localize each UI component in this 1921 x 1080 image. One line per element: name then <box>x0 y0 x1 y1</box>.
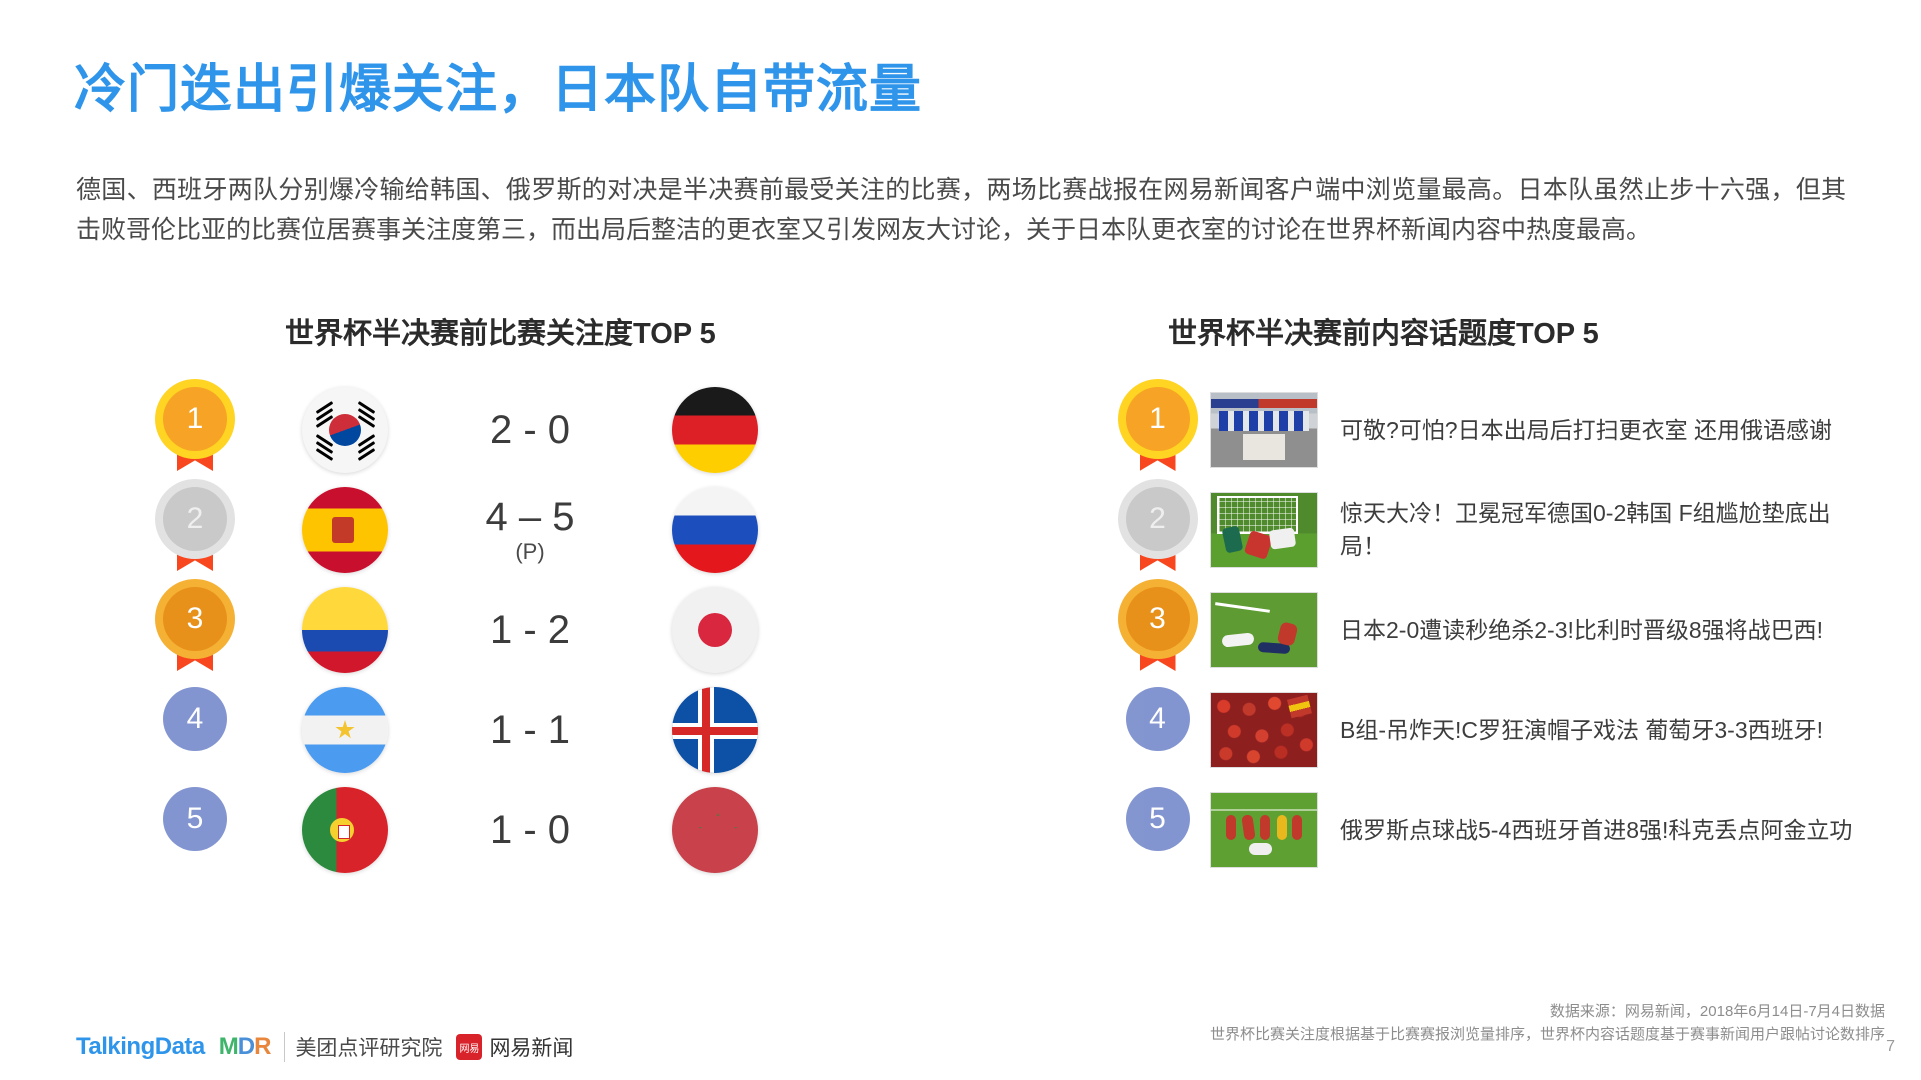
rank-number: 4 <box>1149 702 1166 736</box>
match-score: 1 - 1 <box>440 709 620 751</box>
away-flag-cell <box>620 687 810 773</box>
topic-headline[interactable]: 日本2-0遭读秒绝杀2-3!比利时晋级8强将战巴西! <box>1340 614 1860 647</box>
rank-cell: 1 <box>140 387 250 473</box>
topic-popularity-list: 1 可敬?可怕?日本出局后打扫更衣室 还用俄语感谢 2 惊天大冷！卫冕冠军德国0… <box>1105 380 1895 880</box>
score-value: 4 – 5 <box>486 495 575 539</box>
rank-cell: 5 <box>140 787 250 873</box>
rank-badge-4: 4 <box>1126 687 1190 773</box>
rank-cell: 5 <box>1105 787 1210 873</box>
topic-headline[interactable]: 惊天大冷！卫冕冠军德国0-2韩国 F组尴尬垫底出局！ <box>1340 497 1860 563</box>
rank-badge-4: 4 <box>163 687 227 773</box>
flag-icon-spain <box>302 487 388 573</box>
left-panel-heading: 世界杯半决赛前比赛关注度TOP 5 <box>285 310 716 352</box>
table-row: 3 1 - 2 <box>140 580 900 680</box>
rank-badge-5: 5 <box>163 787 227 873</box>
logo-mdr: MDR <box>219 1033 271 1061</box>
source-note: 数据来源：网易新闻，2018年6月14日-7月4日数据 世界杯比赛关注度根据基于… <box>1210 1000 1885 1046</box>
thumbnail-red-crowd <box>1210 692 1318 768</box>
list-item: 5 俄罗斯点球战5-4西班牙首进8强!科克丢点阿金立功 <box>1105 780 1895 880</box>
netease-label: 网易新闻 <box>489 1032 573 1062</box>
rank-number: 4 <box>187 702 204 736</box>
flag-icon-colombia <box>302 587 388 673</box>
match-score: 1 - 2 <box>440 609 620 651</box>
rank-cell: 3 <box>1105 587 1210 673</box>
home-flag-cell <box>250 787 440 873</box>
page-title: 冷门迭出引爆关注，日本队自带流量 <box>74 62 922 119</box>
list-item: 4 B组-吊炸天!C罗狂演帽子戏法 葡萄牙3-3西班牙! <box>1105 680 1895 780</box>
rank-badge-3: 3 <box>1126 587 1190 673</box>
footer-logos: TalkingData MDR 美团点评研究院 网易 网易新闻 <box>76 1032 573 1062</box>
rank-badge-2: 2 <box>163 487 227 573</box>
home-flag-cell <box>250 387 440 473</box>
rank-cell: 4 <box>140 687 250 773</box>
away-flag-cell <box>620 587 810 673</box>
logo-talkingdata: TalkingData <box>76 1033 205 1061</box>
flag-icon-morocco <box>672 787 758 873</box>
flag-icon-iceland <box>672 687 758 773</box>
away-flag-cell <box>620 787 810 873</box>
topic-headline[interactable]: 可敬?可怕?日本出局后打扫更衣室 还用俄语感谢 <box>1340 414 1860 447</box>
medal-disc: 1 <box>163 387 227 451</box>
away-flag-cell <box>620 387 810 473</box>
topic-headline[interactable]: B组-吊炸天!C罗狂演帽子戏法 葡萄牙3-3西班牙! <box>1340 714 1860 747</box>
page-number: 7 <box>1886 1038 1895 1056</box>
away-flag-cell <box>620 487 810 573</box>
source-line-1: 数据来源：网易新闻，2018年6月14日-7月4日数据 <box>1210 1000 1885 1023</box>
medal-disc: 3 <box>1126 587 1190 651</box>
rank-badge-2: 2 <box>1126 487 1190 573</box>
flag-icon-south-korea <box>302 387 388 473</box>
score-value: 1 - 1 <box>490 708 570 752</box>
rank-badge-1: 1 <box>1126 387 1190 473</box>
slide-root: 冷门迭出引爆关注，日本队自带流量 德国、西班牙两队分别爆冷输给韩国、俄罗斯的对决… <box>0 0 1921 1080</box>
rank-number: 3 <box>1149 602 1166 636</box>
logo-mdr-m: M <box>219 1033 238 1060</box>
flag-icon-portugal <box>302 787 388 873</box>
list-item: 2 惊天大冷！卫冕冠军德国0-2韩国 F组尴尬垫底出局！ <box>1105 480 1895 580</box>
medal-disc: 5 <box>163 787 227 851</box>
rank-number: 2 <box>1149 502 1166 536</box>
table-row: 4 1 - 1 <box>140 680 900 780</box>
flag-icon-germany <box>672 387 758 473</box>
source-line-2: 世界杯比赛关注度根据基于比赛赛报浏览量排序，世界杯内容话题度基于赛事新闻用户跟帖… <box>1210 1023 1885 1046</box>
rank-number: 5 <box>1149 802 1166 836</box>
match-score: 1 - 0 <box>440 809 620 851</box>
home-flag-cell <box>250 487 440 573</box>
match-attention-list: 1 2 - 0 2 <box>140 380 900 880</box>
right-panel-heading: 世界杯半决赛前内容话题度TOP 5 <box>1168 310 1599 352</box>
table-row: 2 4 – 5 (P) <box>140 480 900 580</box>
rank-badge-1: 1 <box>163 387 227 473</box>
logo-netease-news: 网易 网易新闻 <box>456 1032 573 1062</box>
flag-icon-argentina <box>302 687 388 773</box>
rank-number: 3 <box>187 602 204 636</box>
score-value: 1 - 0 <box>490 808 570 852</box>
medal-disc: 5 <box>1126 787 1190 851</box>
flag-icon-russia <box>672 487 758 573</box>
penalty-note: (P) <box>440 540 620 563</box>
medal-disc: 1 <box>1126 387 1190 451</box>
match-score: 2 - 0 <box>440 409 620 451</box>
list-item: 3 日本2-0遭读秒绝杀2-3!比利时晋级8强将战巴西! <box>1105 580 1895 680</box>
rank-number: 2 <box>187 502 204 536</box>
rank-badge-3: 3 <box>163 587 227 673</box>
score-value: 1 - 2 <box>490 608 570 652</box>
medal-disc: 4 <box>1126 687 1190 751</box>
logo-meituan-research: 美团点评研究院 <box>284 1032 442 1062</box>
rank-cell: 2 <box>140 487 250 573</box>
rank-cell: 4 <box>1105 687 1210 773</box>
medal-disc: 2 <box>163 487 227 551</box>
match-score: 4 – 5 (P) <box>440 496 620 563</box>
list-item: 1 可敬?可怕?日本出局后打扫更衣室 还用俄语感谢 <box>1105 380 1895 480</box>
medal-disc: 2 <box>1126 487 1190 551</box>
rank-number: 5 <box>187 802 204 836</box>
table-row: 1 2 - 0 <box>140 380 900 480</box>
rank-cell: 2 <box>1105 487 1210 573</box>
thumbnail-locker-room <box>1210 392 1318 468</box>
logo-mdr-d: D <box>238 1033 254 1060</box>
rank-badge-5: 5 <box>1126 787 1190 873</box>
home-flag-cell <box>250 587 440 673</box>
score-value: 2 - 0 <box>490 408 570 452</box>
rank-number: 1 <box>187 402 204 436</box>
thumbnail-celebration <box>1210 792 1318 868</box>
rank-number: 1 <box>1149 402 1166 436</box>
netease-icon: 网易 <box>456 1034 482 1060</box>
rank-cell: 1 <box>1105 387 1210 473</box>
logo-mdr-r: R <box>254 1033 270 1060</box>
thumbnail-players-on-ground <box>1210 592 1318 668</box>
medal-disc: 4 <box>163 687 227 751</box>
flag-icon-japan <box>672 587 758 673</box>
medal-disc: 3 <box>163 587 227 651</box>
topic-headline[interactable]: 俄罗斯点球战5-4西班牙首进8强!科克丢点阿金立功 <box>1340 814 1860 847</box>
thumbnail-goal-line <box>1210 492 1318 568</box>
home-flag-cell <box>250 687 440 773</box>
table-row: 5 1 - 0 <box>140 780 900 880</box>
intro-paragraph: 德国、西班牙两队分别爆冷输给韩国、俄罗斯的对决是半决赛前最受关注的比赛，两场比赛… <box>76 170 1846 250</box>
rank-cell: 3 <box>140 587 250 673</box>
